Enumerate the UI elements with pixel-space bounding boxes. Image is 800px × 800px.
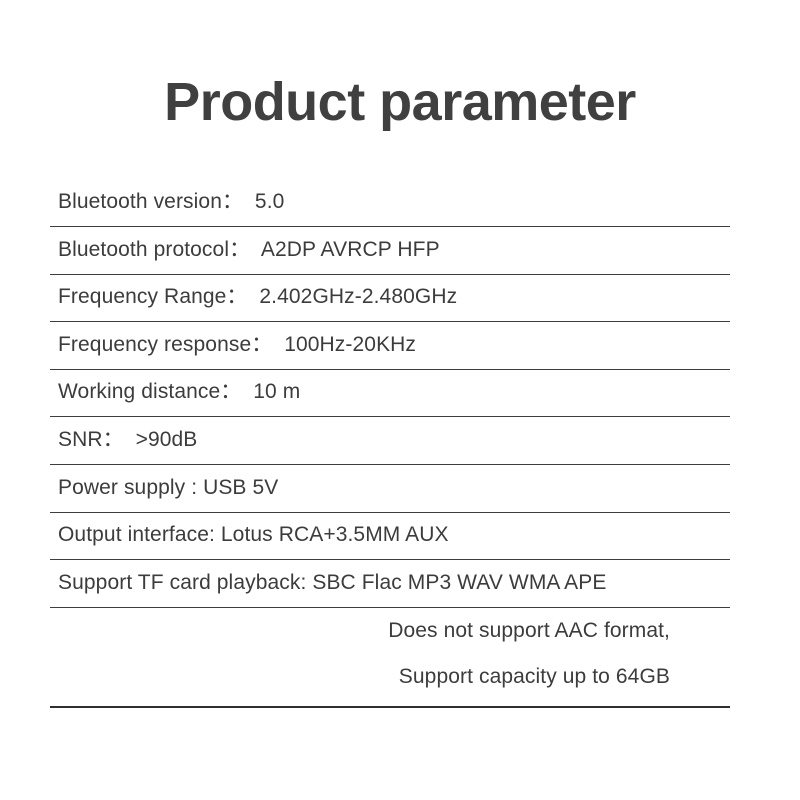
table-row: Support TF card playback: SBC Flac MP3 W…: [50, 560, 730, 608]
table-row: Frequency response： 100Hz-20KHz: [50, 322, 730, 370]
table-row: SNR： >90dB: [50, 417, 730, 465]
product-parameter-sheet: Product parameter Bluetooth version： 5.0…: [0, 0, 800, 800]
table-row: Working distance： 10 m: [50, 370, 730, 418]
spec-row-text: Output interface: Lotus RCA+3.5MM AUX: [50, 522, 449, 547]
spec-row-text: Bluetooth version： 5.0: [50, 189, 284, 214]
table-row: Power supply : USB 5V: [50, 465, 730, 513]
spec-row-text: SNR： >90dB: [50, 427, 197, 452]
footnote-line: Does not support AAC format,: [50, 608, 730, 654]
spec-row-text: Bluetooth protocol： A2DP AVRCP HFP: [50, 237, 440, 262]
table-row: Bluetooth protocol： A2DP AVRCP HFP: [50, 227, 730, 275]
footnote-line: Support capacity up to 64GB: [50, 654, 730, 700]
spec-row-text: Frequency Range： 2.402GHz-2.480GHz: [50, 284, 457, 309]
spec-row-text: Power supply : USB 5V: [50, 475, 278, 500]
spec-row-text: Support TF card playback: SBC Flac MP3 W…: [50, 570, 606, 595]
footnotes-block: Does not support AAC format, Support cap…: [50, 608, 730, 708]
table-row: Bluetooth version： 5.0: [50, 180, 730, 227]
page-title: Product parameter: [0, 74, 800, 131]
spec-row-text: Frequency response： 100Hz-20KHz: [50, 332, 416, 357]
spec-table: Bluetooth version： 5.0 Bluetooth protoco…: [50, 180, 730, 608]
spec-row-text: Working distance： 10 m: [50, 379, 300, 404]
table-row: Frequency Range： 2.402GHz-2.480GHz: [50, 275, 730, 323]
table-row: Output interface: Lotus RCA+3.5MM AUX: [50, 513, 730, 561]
